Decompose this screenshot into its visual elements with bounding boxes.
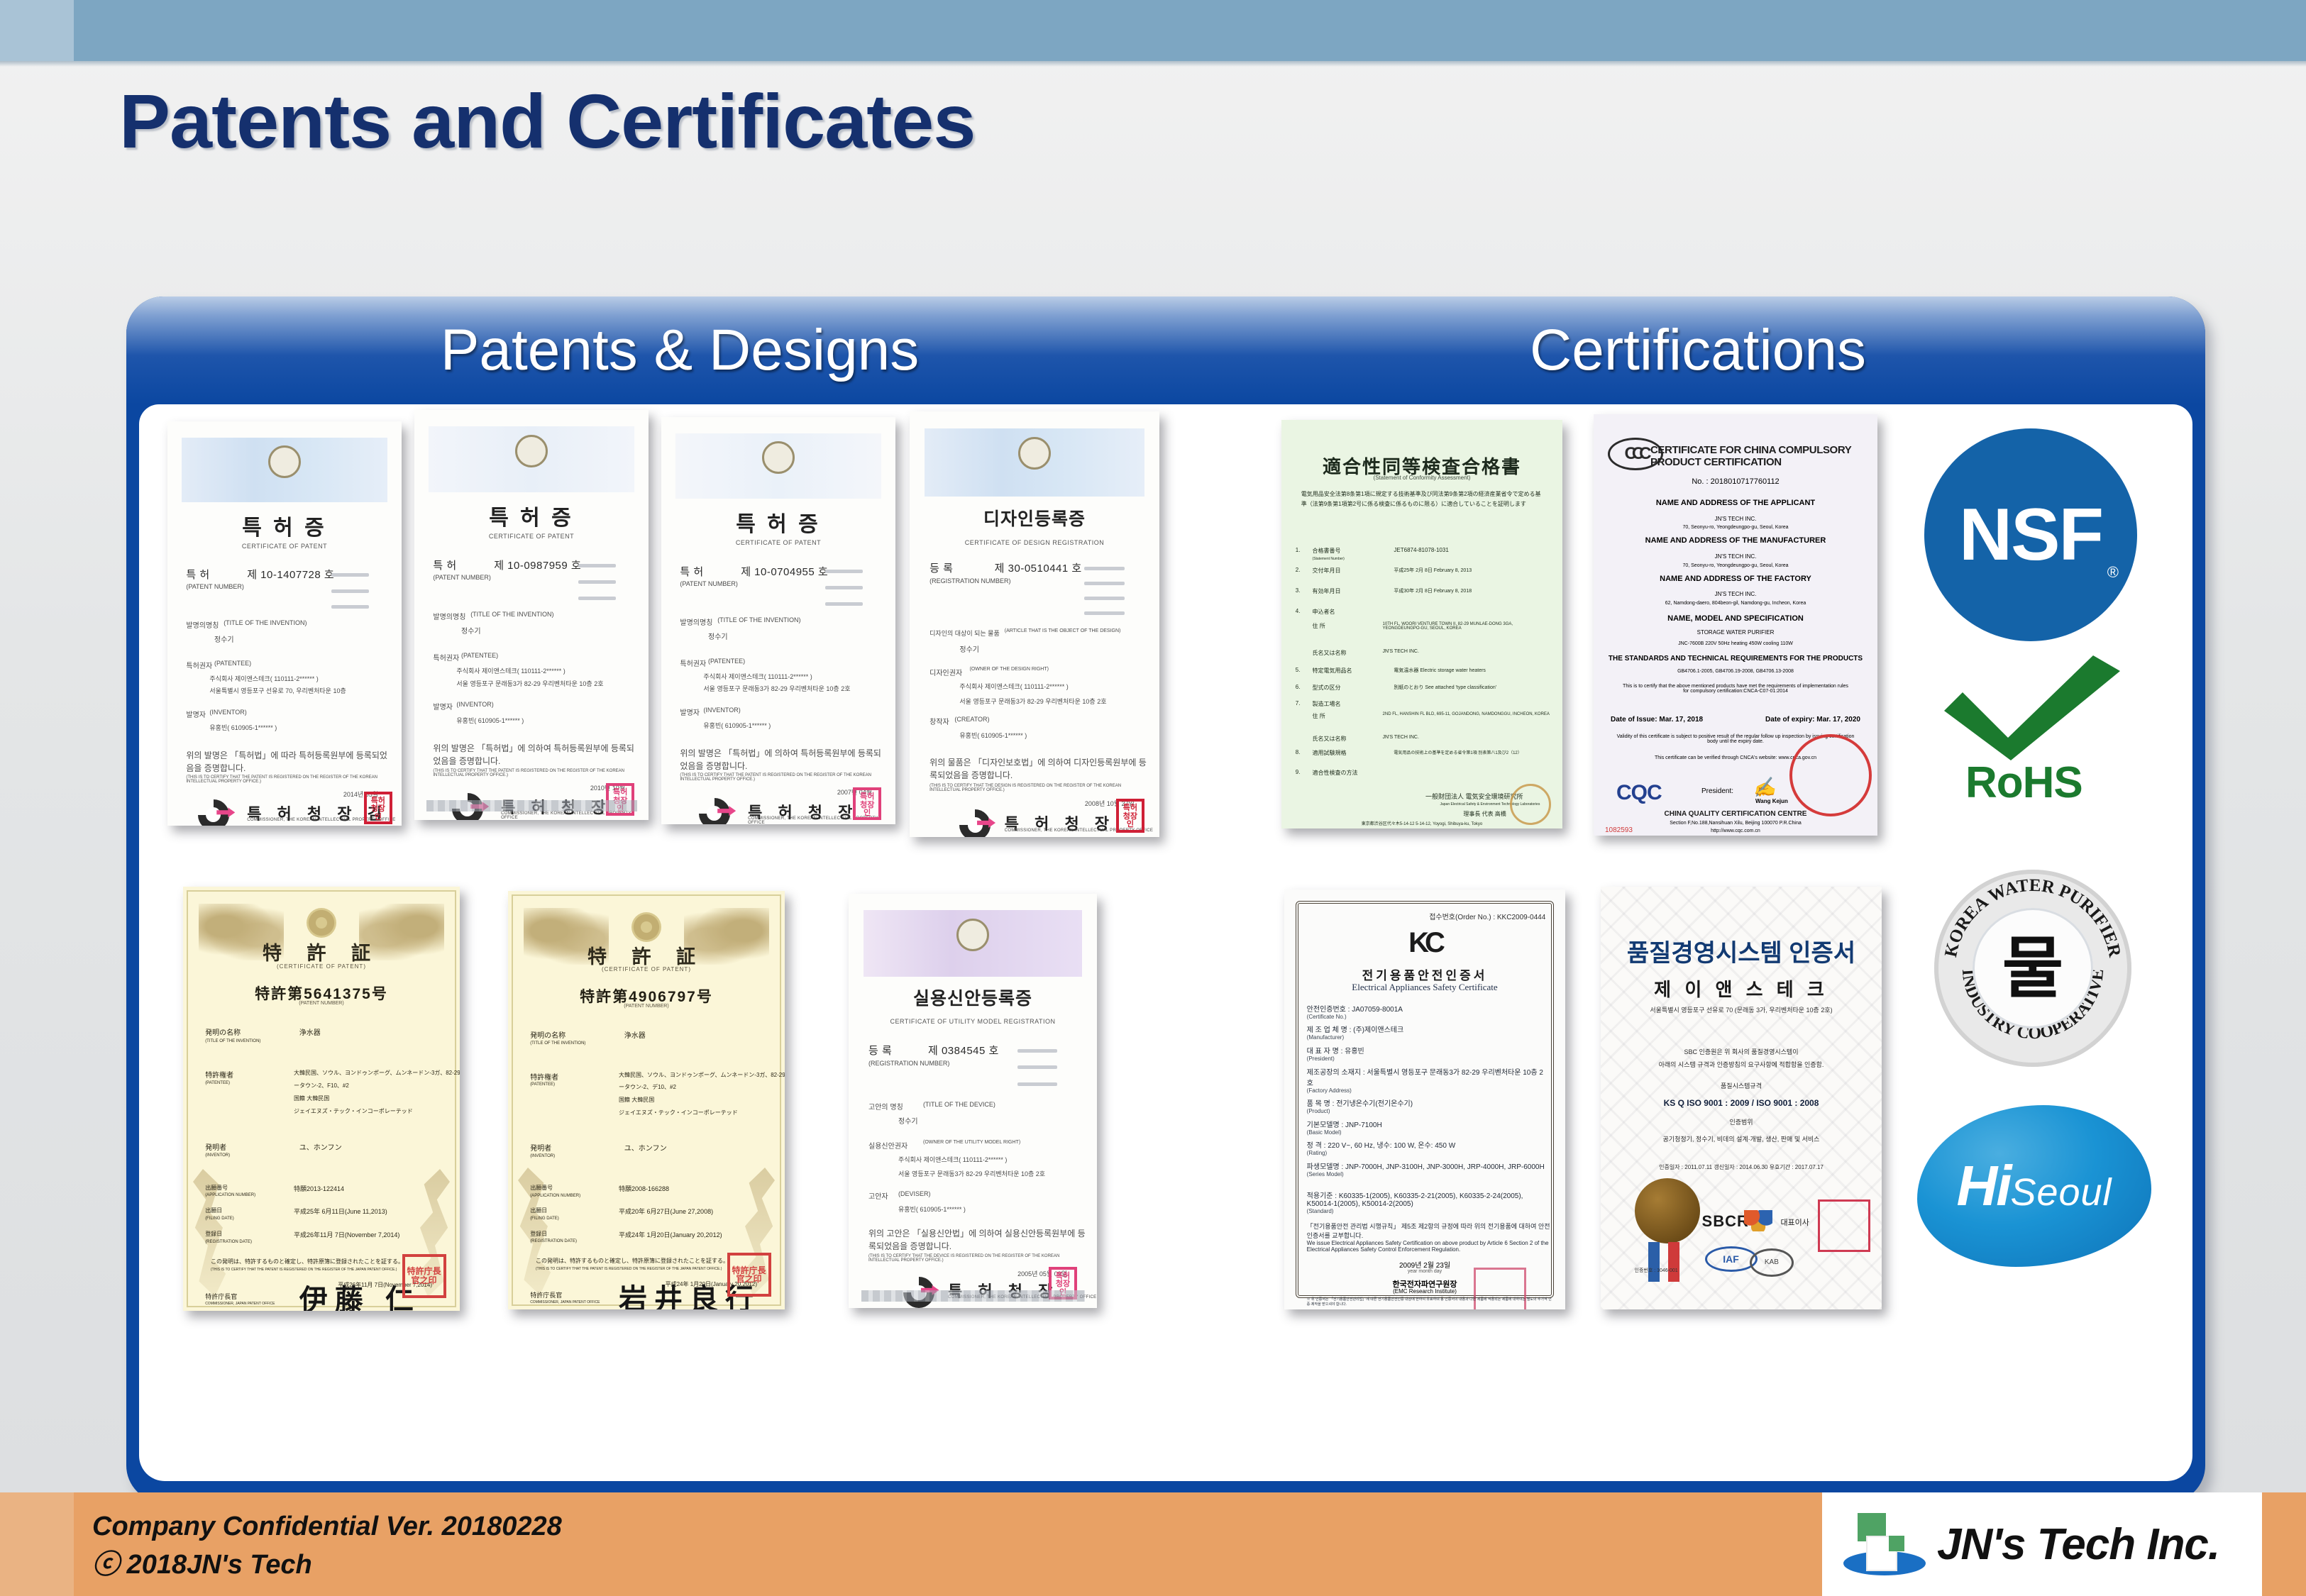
value-patentee-nationality: 国籍 大韓民国 [294, 1095, 329, 1102]
field-rule [825, 570, 863, 573]
row-label: 適用試験規格 [1313, 749, 1347, 757]
standard-label: 품질시스템규격 [1601, 1081, 1882, 1090]
field-title-value: 정수기 [708, 631, 728, 641]
certificate-title-en: CERTIFICATE OF DESIGN REGISTRATION [910, 539, 1159, 546]
field-value: 220 V~, 60 Hz, 냉수: 100 W, 온수: 450 W [1328, 1142, 1455, 1150]
value-invention: 浄水器 [299, 1026, 321, 1037]
applicant-address: 70, Seonyu-ro, Yeongdeungpo-gu, Seoul, K… [1594, 525, 1877, 530]
value-registration-date: 平成26年11月 7日(November 7,2014) [294, 1230, 399, 1239]
field-value: JA07059-8001A [1352, 1006, 1403, 1014]
patent-number-jp: 特許第5641375号 [183, 982, 460, 1004]
certificate-title: CERTIFICATE FOR CHINA COMPULSORY PRODUCT… [1650, 444, 1872, 468]
footnote-bar [861, 1290, 1085, 1302]
certificate-ccc-china[interactable]: CCC CERTIFICATE FOR CHINA COMPULSORY PRO… [1594, 414, 1877, 836]
standard-value: KS Q ISO 9001 : 2009 / ISO 9001 : 2008 [1601, 1098, 1882, 1108]
field-creator-label: 창작자 [929, 716, 949, 726]
certificate-note: ※ 위 인증서는 「전기용품안전관리법」에 따른 전기용품안전인증 대상에 한하… [1307, 1297, 1554, 1307]
patent-number-label: 특 허 [433, 558, 456, 572]
patent-number-label-en: (PATENT NUMBER) [183, 1001, 460, 1006]
certificate-statement-en: (THIS IS TO CERTIFY THAT THE PATENT IS R… [433, 769, 634, 777]
field-rule [578, 597, 616, 600]
field-value: 유홍빈 [1345, 1048, 1364, 1055]
certificate-title-en: (Statement of Conformity Assessment) [1281, 475, 1562, 481]
field-inventor-label-en: (INVENTOR) [703, 706, 740, 714]
label-invention: 発明の名称 [530, 1029, 566, 1040]
certificate-title-kr: 전기용품안전인증서 [1284, 965, 1565, 983]
value-filing-date: 平成20年 6月27日(June 27,2008) [619, 1207, 713, 1216]
field-article-label-en: (ARTICLE THAT IS THE OBJECT OF THE DESIG… [1005, 628, 1121, 633]
chrysanthemum-crest-icon [631, 912, 661, 942]
field-owner-address: 서울 영등포구 문래동3가 82-29 우리벤처타운 10층 2호 [898, 1169, 1045, 1178]
row-label: 交付年月日 [1313, 567, 1341, 575]
value-application-number: 特願2013-122414 [294, 1184, 344, 1193]
kipo-emblem-icon [1018, 437, 1051, 470]
kwp-center-disc: 물 [1973, 908, 2093, 1029]
field-inventor-label-en: (INVENTOR) [209, 709, 246, 716]
scope-label: 인증범위 [1601, 1117, 1882, 1126]
label-application-number: 出願番号 [530, 1184, 553, 1192]
certificate-title-jp: 特 許 証 [508, 941, 785, 969]
hi-seoul-text-group: HiSeoul [1956, 1153, 2112, 1219]
certificate-number-value: 2018010717760112 [1711, 477, 1780, 486]
patent-number-label: 특 허 [186, 567, 209, 582]
kc-field-president: 대 표 자 명 : 유홍빈 (President) [1307, 1045, 1364, 1062]
field-value: JNP-7000H, JNP-3100H, JNP-3000H, JRP-400… [1345, 1163, 1545, 1171]
label-application-number-en: (APPLICATION NUMBER) [530, 1194, 580, 1198]
field-label-kr: 대 표 자 명 [1307, 1048, 1339, 1055]
field-inventor-label: 발명자 [186, 709, 206, 719]
top-bar-shadow [0, 61, 2306, 67]
registered-trademark-icon: ® [2107, 563, 2119, 582]
sbcr-logo-text: SBCR [1702, 1212, 1749, 1231]
field-rule [1084, 582, 1124, 585]
certificate-statement-kr: 위의 발명은 「특허법」에 의하여 특허등록원부에 등록되었음을 증명합니다. [433, 742, 634, 767]
label-patentee-en: (PATENTEE) [205, 1081, 230, 1085]
certificate-japanese-patent-2[interactable]: 特 許 証 (CERTIFICATE OF PATENT) 特許第4906797… [508, 891, 785, 1309]
certificate-title-en: Electrical Appliances Safety Certificate [1284, 982, 1565, 993]
row-label: 型式の区分 [1313, 684, 1341, 692]
kc-field-standard: 적용기준 : K60335-1(2005), K60335-2-21(2005)… [1307, 1190, 1549, 1214]
patent-number-jp: 特許第4906797号 [508, 985, 785, 1007]
label-registration-date: 登録日 [530, 1230, 547, 1238]
field-deviser-value: 유홍빈( 610905-1****** ) [898, 1204, 966, 1214]
row-value: JN'S TECH INC. [1383, 649, 1419, 654]
certificate-statement-kr: 「전기용품안전 관리법 시행규칙」 제5조 제2항의 규정에 따라 위의 전기용… [1307, 1221, 1554, 1240]
certificate-gallery: 특 허 증 CERTIFICATE OF PATENT 특 허 제 10-140… [139, 404, 2192, 1481]
registration-number-label-en: (REGISTRATION NUMBER) [868, 1060, 949, 1067]
value-patentee-line2: ータウン-2、F10、#2 [294, 1082, 349, 1090]
order-number-row: 접수번호(Order No.) : KKC2009-0444 [1429, 911, 1545, 921]
field-label-kr: 제 조 업 체 명 [1307, 1026, 1347, 1034]
field-label-kr: 파생모델명 [1307, 1163, 1340, 1171]
registration-number-value: 제 30-0510441 호 [995, 560, 1082, 575]
field-inventor-value: 유홍빈( 610905-1****** ) [209, 723, 277, 732]
value-patentee-nationality: 国籍 大韓民国 [619, 1096, 654, 1104]
ribbon-icon [1668, 1242, 1679, 1282]
ribbon-icon [1648, 1242, 1660, 1282]
field-rule [578, 564, 616, 567]
value-inventor: ユ、ホンフン [299, 1141, 342, 1152]
row-no: 7. [1296, 700, 1301, 706]
row-label: 適合性検査の方法 [1313, 769, 1358, 777]
field-title-label-en: (TITLE OF THE INVENTION) [470, 611, 553, 618]
field-label-en: (Standard) [1307, 1208, 1549, 1214]
field-title-label: 발명의명칭 [433, 611, 465, 621]
section-applicant: NAME AND ADDRESS OF THE APPLICANT [1594, 499, 1877, 507]
field-title-label-en: (TITLE OF THE INVENTION) [717, 616, 800, 624]
field-label-en: (Rating) [1307, 1150, 1455, 1156]
iaf-logo-icon: IAF [1705, 1246, 1758, 1272]
date-of-expiry: Date of expiry: Mar. 17, 2020 [1765, 716, 1860, 724]
row-no: 4. [1296, 608, 1301, 614]
kc-field-basic-model: 기본모델명 : JNP-7100H (Basic Model) [1307, 1119, 1382, 1136]
label-filing-date: 出願日 [530, 1207, 547, 1214]
row-value: 10TH FL, WOORI VENTURE TOWN II, 82-29 MU… [1383, 622, 1552, 631]
top-decoration-bar [0, 0, 2306, 61]
certificate-title-kr: 품질경영시스템 인증서 [1601, 933, 1882, 968]
field-rule [331, 573, 369, 577]
field-patentee-label-en: (PATENTEE) [461, 652, 498, 659]
label-registration-date-en: (REGISTRATION DATE) [530, 1239, 577, 1243]
patent-number-value: 제 10-0987959 호 [494, 558, 581, 572]
label-inventor-en: (INVENTOR) [530, 1154, 555, 1158]
value-registration-date: 平成24年 1月20日(January 20,2012) [619, 1230, 722, 1239]
hi-seoul-seoul-text: Seoul [2010, 1171, 2112, 1214]
field-title-value: 정수기 [461, 625, 481, 636]
kwp-center-character: 물 [2002, 935, 2063, 1002]
footer-line-1: Company Confidential Ver. 20180228 [92, 1508, 562, 1546]
top-bar-left-accent [0, 0, 74, 61]
logo-hi-seoul[interactable]: HiSeoul [1917, 1105, 2151, 1267]
field-rule [1017, 1082, 1057, 1086]
kipo-emblem-icon [268, 445, 301, 478]
registration-number-label: 등 록 [868, 1043, 892, 1058]
order-number-label: 접수번호(Order No.) : [1429, 914, 1495, 921]
value-application-number: 特願2008-166288 [619, 1184, 669, 1193]
value-filing-date: 平成25年 6月11日(June 11,2013) [294, 1207, 387, 1216]
field-patentee-label: 특허권자 [433, 652, 459, 663]
footer-line-2: ⓒ 2018JN's Tech [92, 1546, 562, 1585]
certificate-statement-en: (THIS IS TO CERTIFY THAT THE DESIGN IS R… [929, 784, 1149, 792]
field-title-value: 정수기 [214, 633, 234, 644]
certify-text: This is to certify that the above mentio… [1594, 684, 1877, 694]
certificate-statement-kr: 위의 고안은 「실용신안법」에 의하여 실용신안등록원부에 등록되었음을 증명합… [868, 1227, 1087, 1253]
certificate-korean-patent-2[interactable]: 특 허 증 CERTIFICATE OF PATENT 특 허 제 10-098… [414, 410, 649, 820]
certificate-korean-utility-model[interactable]: 실용신안등록증 CERTIFICATE OF UTILITY MODEL REG… [849, 894, 1097, 1308]
field-rule [825, 586, 863, 589]
certificate-statement-en: We issue Electrical Appliances Safety Ce… [1307, 1240, 1554, 1253]
kc-field-factory-address: 제조공장의 소재지 : 서울특별시 영등포구 문래동3가 82-29 우리벤처타… [1307, 1066, 1549, 1094]
certificate-number-row: No. : 2018010717760112 [1594, 477, 1877, 486]
field-deviser-label: 고안자 [868, 1190, 888, 1201]
company-name-kr: 제 이 앤 스 테 크 [1601, 975, 1882, 1002]
label-patentee: 特許権者 [205, 1069, 233, 1080]
cqc-logo-icon: CQC [1616, 781, 1662, 805]
field-inventor-value: 유홍빈( 610905-1****** ) [703, 721, 771, 730]
field-article-label: 디자인의 대상이 되는 물품 [929, 628, 1000, 638]
field-label-en: (Product) [1307, 1108, 1413, 1114]
row-label: 製造工場名 [1313, 700, 1341, 708]
president-label: President: [1701, 787, 1733, 795]
commissioner-label-en: COMMISSIONER, JAPAN PATENT OFFICE [205, 1302, 275, 1306]
row-no: 6. [1296, 684, 1301, 690]
field-patentee-label: 특허권자 [680, 658, 706, 668]
row-value: JET6874-81078-1031 [1394, 547, 1448, 553]
row-no: 3. [1296, 587, 1301, 594]
certificate-title-kr: 디자인등록증 [910, 505, 1159, 531]
footer-left-accent [0, 1492, 74, 1596]
row-value: 平成25年 2月 8日 February 8, 2013 [1394, 567, 1472, 574]
nsf-logo-text: NSF [1959, 493, 2102, 577]
kipo-emblem-icon [956, 919, 989, 951]
certificate-title-en: CERTIFICATE OF PATENT [661, 539, 895, 546]
kab-logo-icon: KAB [1750, 1248, 1794, 1277]
field-title-label-en: (TITLE OF THE INVENTION) [224, 619, 307, 626]
field-deviser-label-en: (DEVISER) [898, 1190, 931, 1197]
company-address-kr: 서울특별시 영등포구 선유로 70 (문래동 3가, 우리벤처타운 10층 2호… [1601, 1005, 1882, 1014]
row-no: 9. [1296, 769, 1301, 775]
scope-value: 공기청정기, 정수기, 비데의 설계·개발, 생산, 판매 및 서비스 [1601, 1134, 1882, 1143]
field-label-en: (Certificate No.) [1307, 1014, 1403, 1020]
issuer-address: 東京都渋谷区代々木5-14-12 5-14-12, Yoyogi, Shibuy… [1281, 820, 1562, 826]
footer-confidential-text: Company Confidential Ver. 20180228 ⓒ 201… [92, 1508, 562, 1585]
label-invention-en: (TITLE OF THE INVENTION) [530, 1041, 585, 1046]
president-name-jp: 理事長 代表 高橋 [1463, 810, 1506, 818]
value-inventor: ユ、ホンフン [624, 1142, 667, 1153]
certificate-korean-patent-1[interactable]: 특 허 증 CERTIFICATE OF PATENT 특 허 제 10-140… [167, 421, 402, 826]
certificate-statement-jp: この発明は、特許するものと確定し、特許原簿に登録されたことを証する。 [536, 1257, 729, 1265]
field-title-label: 발명의명칭 [186, 619, 219, 630]
certificate-title-en: (CERTIFICATE OF PATENT) [183, 963, 460, 970]
standards-value: GB4706.1-2005, GB4706.19-2008, GB4706.13… [1594, 669, 1877, 674]
spec-product: STORAGE WATER PURIFIER [1594, 629, 1877, 636]
manufacturer-address: 70, Seonyu-ro, Yeongdeungpo-gu, Seoul, K… [1594, 563, 1877, 568]
field-device-label: 고안의 명칭 [868, 1101, 903, 1112]
certificate-korean-patent-3[interactable]: 특 허 증 CERTIFICATE OF PATENT 특 허 제 10-070… [661, 417, 895, 824]
page-title: Patents and Certificates [119, 77, 975, 165]
chrysanthemum-crest-icon [307, 908, 336, 938]
centre-url: http://www.cqc.com.cn [1594, 829, 1877, 833]
label-inventor: 発明者 [205, 1141, 226, 1152]
field-value: JNP-7100H [1345, 1121, 1382, 1129]
certificate-title-kr: 특 허 증 [414, 500, 649, 531]
sbcr-logo-icon [1744, 1210, 1772, 1231]
field-rule [578, 580, 616, 584]
certificate-statement-en: (THIS IS TO CERTIFY THAT THE PATENT IS R… [536, 1267, 722, 1271]
certificate-japanese-patent-1[interactable]: 特 許 証 (CERTIFICATE OF PATENT) 特許第5641375… [183, 887, 460, 1311]
company-logo[interactable]: JN's Tech Inc. [1822, 1492, 2262, 1596]
official-seal: 특허청장인 [364, 792, 392, 824]
company-logo-text: JN's Tech Inc. [1937, 1519, 2219, 1570]
field-label-kr: 제조공장의 소재지 [1307, 1069, 1361, 1077]
logo-korea-water-purifier[interactable]: KOREA WATER PURIFIER INDUSTRY COOPERATIV… [1934, 870, 2131, 1067]
body-line-2: 아래의 시스템 규격과 인증방침의 요구사항에 적합함을 인증함. [1601, 1060, 1882, 1069]
row-value: 平成30年 2月 8日 February 8, 2018 [1394, 587, 1472, 594]
certificate-statement-en: (THIS IS TO CERTIFY THAT THE PATENT IS R… [211, 1268, 397, 1272]
certificate-title-en: (CERTIFICATE OF PATENT) [508, 966, 785, 972]
kipo-emblem-icon [762, 441, 795, 474]
centre-address: Section F,No.188,Nansihuan Xilu, Beijing… [1594, 821, 1877, 826]
date-of-expiry-label: Date of expiry: [1765, 716, 1814, 724]
section-factory: NAME AND ADDRESS OF THE FACTORY [1594, 575, 1877, 583]
jn-logo-mark-icon [1842, 1510, 1927, 1578]
label-patentee-en: (PATENTEE) [530, 1082, 555, 1087]
label-inventor: 発明者 [530, 1142, 551, 1153]
manufacturer-name: JN'S TECH INC. [1594, 553, 1877, 560]
tab-certifications-label: Certifications [1530, 317, 1866, 384]
logo-rohs[interactable]: RoHS [1934, 653, 2133, 816]
field-patentee-value: 주식회사 제이앤스테크( 110111-2****** ) [456, 666, 565, 675]
field-label-kr: 적용기준 [1307, 1192, 1333, 1200]
field-owner-value: 주식회사 제이앤스테크( 110111-2****** ) [898, 1155, 1007, 1164]
field-label-en: (Manufacturer) [1307, 1034, 1404, 1041]
check-mark-icon [1934, 653, 2133, 766]
kipo-emblem-icon [515, 435, 548, 467]
section-standards: THE STANDARDS AND TECHNICAL REQUIREMENTS… [1594, 655, 1877, 663]
tab-patents-designs[interactable]: Patents & Designs [126, 317, 1233, 384]
field-patentee-label-en: (PATENTEE) [708, 658, 745, 665]
field-owner-label: 디자인권자 [929, 667, 962, 677]
section-specification: NAME, MODEL AND SPECIFICATION [1594, 614, 1877, 623]
label-application-number-en: (APPLICATION NUMBER) [205, 1193, 255, 1197]
ccc-official-seal [1789, 734, 1872, 816]
row-no: 5. [1296, 667, 1301, 673]
certificate-statement-kr: 위의 발명은 「특허법」에 따라 특허등록원부에 등록되었음을 증명합니다. [186, 749, 387, 775]
date-of-issue-label: Date of Issue: [1611, 716, 1657, 724]
row-no: 1. [1296, 547, 1301, 553]
registration-number-value: 제 0384545 호 [928, 1043, 999, 1058]
field-patentee-address: 서울 영등포구 문래동3가 82-29 우리벤처타운 10층 2호 [456, 679, 603, 688]
row-label: 特定電気用品名 [1313, 667, 1352, 675]
certificate-statement-en: (THIS IS TO CERTIFY THAT THE DEVICE IS R… [868, 1254, 1087, 1263]
row-label: 氏名又は名称 [1313, 649, 1347, 657]
certificate-statement-kr: 위의 발명은 「특허법」에 의하여 특허등록원부에 등록되었음을 증명합니다. [680, 747, 881, 772]
row-no: 2. [1296, 567, 1301, 573]
field-rule [1084, 611, 1124, 615]
patent-number-label-en: (PATENT NUMBER) [508, 1004, 785, 1009]
value-invention: 浄水器 [624, 1029, 646, 1040]
patent-number-label: 특 허 [680, 564, 703, 579]
certificate-statement-jp: この発明は、特許するものと確定し、特許原簿に登録されたことを証する。 [211, 1258, 404, 1265]
certificate-korean-design-registration[interactable]: 디자인등록증 CERTIFICATE OF DESIGN REGISTRATIO… [910, 411, 1159, 837]
field-label-kr: 안전인증번호 [1307, 1006, 1346, 1014]
order-number-value: KKC2009-0444 [1497, 914, 1545, 921]
label-registration-date-en: (REGISTRATION DATE) [205, 1240, 252, 1244]
row-label: 申込者名 [1313, 608, 1335, 616]
row-label: 氏名又は名称 [1313, 735, 1347, 743]
field-value: K60335-1(2005), K60335-2-21(2005), K6033… [1307, 1192, 1523, 1208]
hi-seoul-hi-text: Hi [1956, 1154, 2010, 1217]
kc-field-product: 품 목 명 : 전기냉온수기(전기온수기) (Product) [1307, 1097, 1413, 1114]
patent-number-value: 제 10-1407728 호 [247, 567, 334, 582]
tab-patents-designs-label: Patents & Designs [441, 317, 920, 384]
official-stamp [1510, 784, 1551, 825]
field-owner-label: 실용신안권자 [868, 1140, 907, 1151]
certificate-japan-conformity[interactable]: 適合性同等検査合格書 (Statement of Conformity Asse… [1281, 420, 1562, 829]
certificate-iso-9001-quality[interactable]: 품질경영시스템 인증서 제 이 앤 스 테 크 서울특별시 영등포구 선유로 7… [1601, 887, 1882, 1309]
field-patentee-value: 주식회사 제이앤스테크( 110111-2****** ) [209, 674, 318, 683]
rohs-logo-text: RoHS [1965, 758, 2082, 808]
nsf-logo-icon: NSF ® [1924, 428, 2137, 641]
field-owner-label-en: (OWNER OF THE DESIGN RIGHT) [969, 667, 1048, 672]
kc-field-manufacturer: 제 조 업 체 명 : (주)제이앤스테크 (Manufacturer) [1307, 1024, 1404, 1041]
field-label-en: (President) [1307, 1055, 1364, 1062]
field-inventor-value: 유홍빈( 610905-1****** ) [456, 716, 524, 725]
field-rule [1017, 1049, 1057, 1053]
field-patentee-label-en: (PATENTEE) [214, 660, 251, 667]
president-signature: ✍ [1751, 775, 1776, 799]
date-of-expiry-value: Mar. 17, 2020 [1816, 716, 1860, 724]
patent-number-value: 제 10-0704955 호 [741, 564, 828, 579]
logo-nsf[interactable]: NSF ® [1924, 428, 2137, 641]
section-manufacturer: NAME AND ADDRESS OF THE MANUFACTURER [1594, 536, 1877, 545]
registration-number-label-en: (REGISTRATION NUMBER) [929, 577, 1010, 584]
value-patentee-line1: 大韓民国、ソウル、ヨンドゥンポーグ、ムンネードン-3ガ、82-29、ウリーベンチ… [619, 1071, 785, 1079]
certificate-title-en: CERTIFICATE OF UTILITY MODEL REGISTRATIO… [849, 1018, 1097, 1025]
certificate-title-kr: 실용신안등록증 [849, 985, 1097, 1010]
value-patentee-company: ジェイエヌズ・テック・インコーポレーテッド [294, 1107, 413, 1115]
panel-header-titles: Patents & Designs Certifications [126, 297, 2205, 404]
field-patentee-label: 특허권자 [186, 660, 212, 670]
official-seal: 특허청장인 [1116, 799, 1144, 833]
official-seal: 特許庁長官之印 [727, 1253, 771, 1297]
certificate-kc-electrical-safety[interactable]: 접수번호(Order No.) : KKC2009-0444 KC 전기용품안전… [1284, 890, 1565, 1309]
field-owner-label-en: (OWNER OF THE UTILITY MODEL RIGHT) [923, 1140, 1020, 1145]
field-owner-value: 주식회사 제이앤스테크( 110111-2****** ) [959, 682, 1068, 691]
field-patentee-address: 서울 영등포구 문래동3가 82-29 우리벤처타운 10층 2호 [703, 684, 850, 693]
field-title-label: 발명의명칭 [680, 616, 712, 627]
row-value: 電気用品の技術上の基準を定める省令第1項 別表第八1及び2（12） [1394, 749, 1551, 755]
certificate-title-kr: 특 허 증 [661, 506, 895, 538]
field-value: (주)제이앤스테크 [1353, 1026, 1403, 1034]
jn-logo-square-green-small [1889, 1536, 1904, 1551]
patent-number-label-en: (PATENT NUMBER) [680, 580, 738, 587]
commissioner-label-jp: 特許庁長官 [205, 1292, 237, 1301]
label-patentee: 特許権者 [530, 1071, 558, 1082]
official-seal: 특허청장인 [853, 787, 881, 820]
field-patentee-address: 서울특별시 영등포구 선유로 70, 우리벤처타운 10층 [209, 686, 346, 695]
row-label: 有効年月日 [1313, 587, 1341, 595]
registration-number-label: 등 록 [929, 560, 953, 575]
field-creator-label-en: (CREATOR) [954, 716, 989, 723]
field-label-en: (Basic Model) [1307, 1129, 1382, 1136]
certificate-number: 인증번호 : 1046-001 [1635, 1267, 1678, 1274]
certificate-title-jp: 特 許 証 [183, 938, 460, 965]
tab-certifications[interactable]: Certifications [1233, 317, 2205, 384]
certificate-statement-kr: 위의 물품은 「디자인보호법」에 의하여 디자인등록원부에 등록되었음을 증명합… [929, 756, 1149, 782]
certificate-dates: 인증일자 : 2011.07.11 갱신일자 : 2014.06.30 유효기간… [1601, 1163, 1882, 1171]
commissioner-label-en: COMMISSIONER, JAPAN PATENT OFFICE [530, 1300, 600, 1304]
label-filing-date: 出願日 [205, 1207, 222, 1214]
label-invention: 発明の名称 [205, 1026, 241, 1037]
certificate-statement-en: (THIS IS TO CERTIFY THAT THE PATENT IS R… [680, 773, 881, 782]
row-no: 8. [1296, 749, 1301, 755]
field-inventor-label: 발명자 [680, 706, 700, 717]
field-value: 전기냉온수기(전기온수기) [1336, 1100, 1413, 1108]
president-name: Wang Kejun [1755, 798, 1788, 804]
label-filing-date-en: (FILING DATE) [205, 1217, 234, 1221]
field-device-label-en: (TITLE OF THE DEVICE) [923, 1101, 995, 1108]
factory-name: JN'S TECH INC. [1594, 591, 1877, 597]
date-of-issue-value: Mar. 17, 2018 [1659, 716, 1703, 724]
field-patentee-value: 주식회사 제이앤스테크( 110111-2****** ) [703, 672, 812, 681]
certificate-intro-text: 電気用品安全法第8条第1項に規定する技術基準及び同法第9条第2項の経済産業省令で… [1301, 489, 1543, 509]
official-seal: 特許庁長官之印 [402, 1254, 446, 1298]
field-rule [825, 602, 863, 606]
certificate-title-kr: 특 허 증 [167, 510, 402, 541]
row-value: 別紙のとおり See attached 'type classification… [1394, 684, 1496, 691]
certificate-title-en: CERTIFICATE OF PATENT [414, 533, 649, 540]
